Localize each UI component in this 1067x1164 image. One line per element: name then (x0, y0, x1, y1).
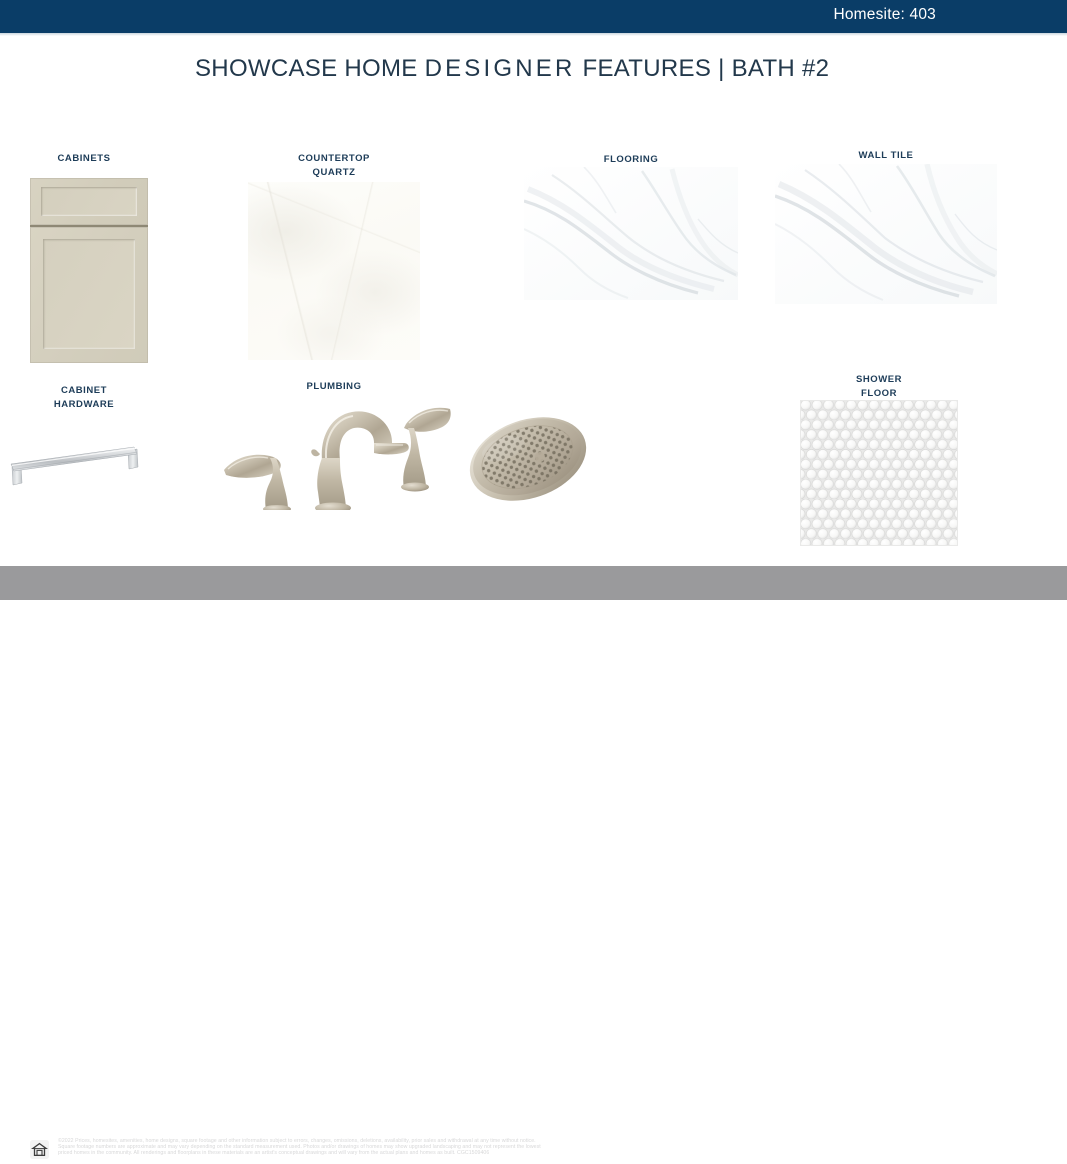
page-title-emphasis: DESIGNER (425, 55, 576, 82)
label-countertop: COUNTERTOP QUARTZ (248, 152, 420, 179)
swatch-wall-tile (775, 164, 997, 304)
footer-bar: ©2022 Prices, homesites, amenities, home… (0, 566, 1067, 600)
legal-disclaimer: ©2022 Prices, homesites, amenities, home… (58, 1138, 903, 1157)
page-title-part1: SHOWCASE HOME (195, 55, 425, 82)
widespread-faucet-icon (212, 398, 452, 510)
label-cabinets: CABINETS (20, 152, 148, 166)
header-bar: Homesite: 403 (0, 0, 1067, 33)
label-wall-tile: WALL TILE (775, 149, 997, 163)
label-flooring: FLOORING (524, 153, 738, 167)
homesite-label: Homesite: 403 (833, 6, 936, 24)
logo-registered-mark: ® (1051, 1142, 1055, 1148)
cabinet-door-recess (43, 239, 135, 349)
showerhead-icon (462, 403, 594, 511)
swatch-cabinet-hardware (6, 443, 146, 493)
label-plumbing: PLUMBING (248, 380, 420, 394)
logo-homes: HOMES (1002, 1139, 1051, 1154)
logo-kolter: KOLTER (948, 1139, 1002, 1154)
equal-housing-icon (30, 1140, 49, 1159)
faucet-handle-right (401, 408, 451, 492)
kolter-homes-logo: KOLTERHOMES® (948, 1139, 1055, 1154)
swatch-plumbing-faucet (212, 398, 452, 510)
cabinet-door-front (30, 227, 148, 363)
faucet-spout (311, 411, 409, 510)
swatch-countertop-quartz (248, 182, 420, 360)
page-title: SHOWCASE HOME DESIGNER FEATURES | BATH #… (195, 55, 829, 83)
label-cabinet-hardware: CABINET HARDWARE (20, 384, 148, 411)
bar-pull-handle-icon (6, 443, 146, 493)
label-shower-floor: SHOWER FLOOR (795, 373, 963, 400)
cabinet-drawer-front (30, 178, 148, 225)
legal-line-3: priced homes in the community. All rende… (58, 1150, 903, 1156)
penny-round-mosaic-icon (800, 400, 958, 546)
page-title-part2: FEATURES | BATH #2 (576, 55, 830, 82)
cabinet-drawer-recess (41, 187, 137, 216)
swatch-cabinets (30, 178, 148, 363)
header-shadow (0, 33, 1067, 36)
faucet-handle-left (224, 455, 291, 510)
swatch-flooring (524, 167, 738, 300)
marble-veining-wall-tile (775, 164, 997, 304)
swatch-shower-floor (800, 400, 958, 546)
marble-veining-flooring (524, 167, 738, 300)
swatch-plumbing-showerhead (462, 403, 594, 511)
